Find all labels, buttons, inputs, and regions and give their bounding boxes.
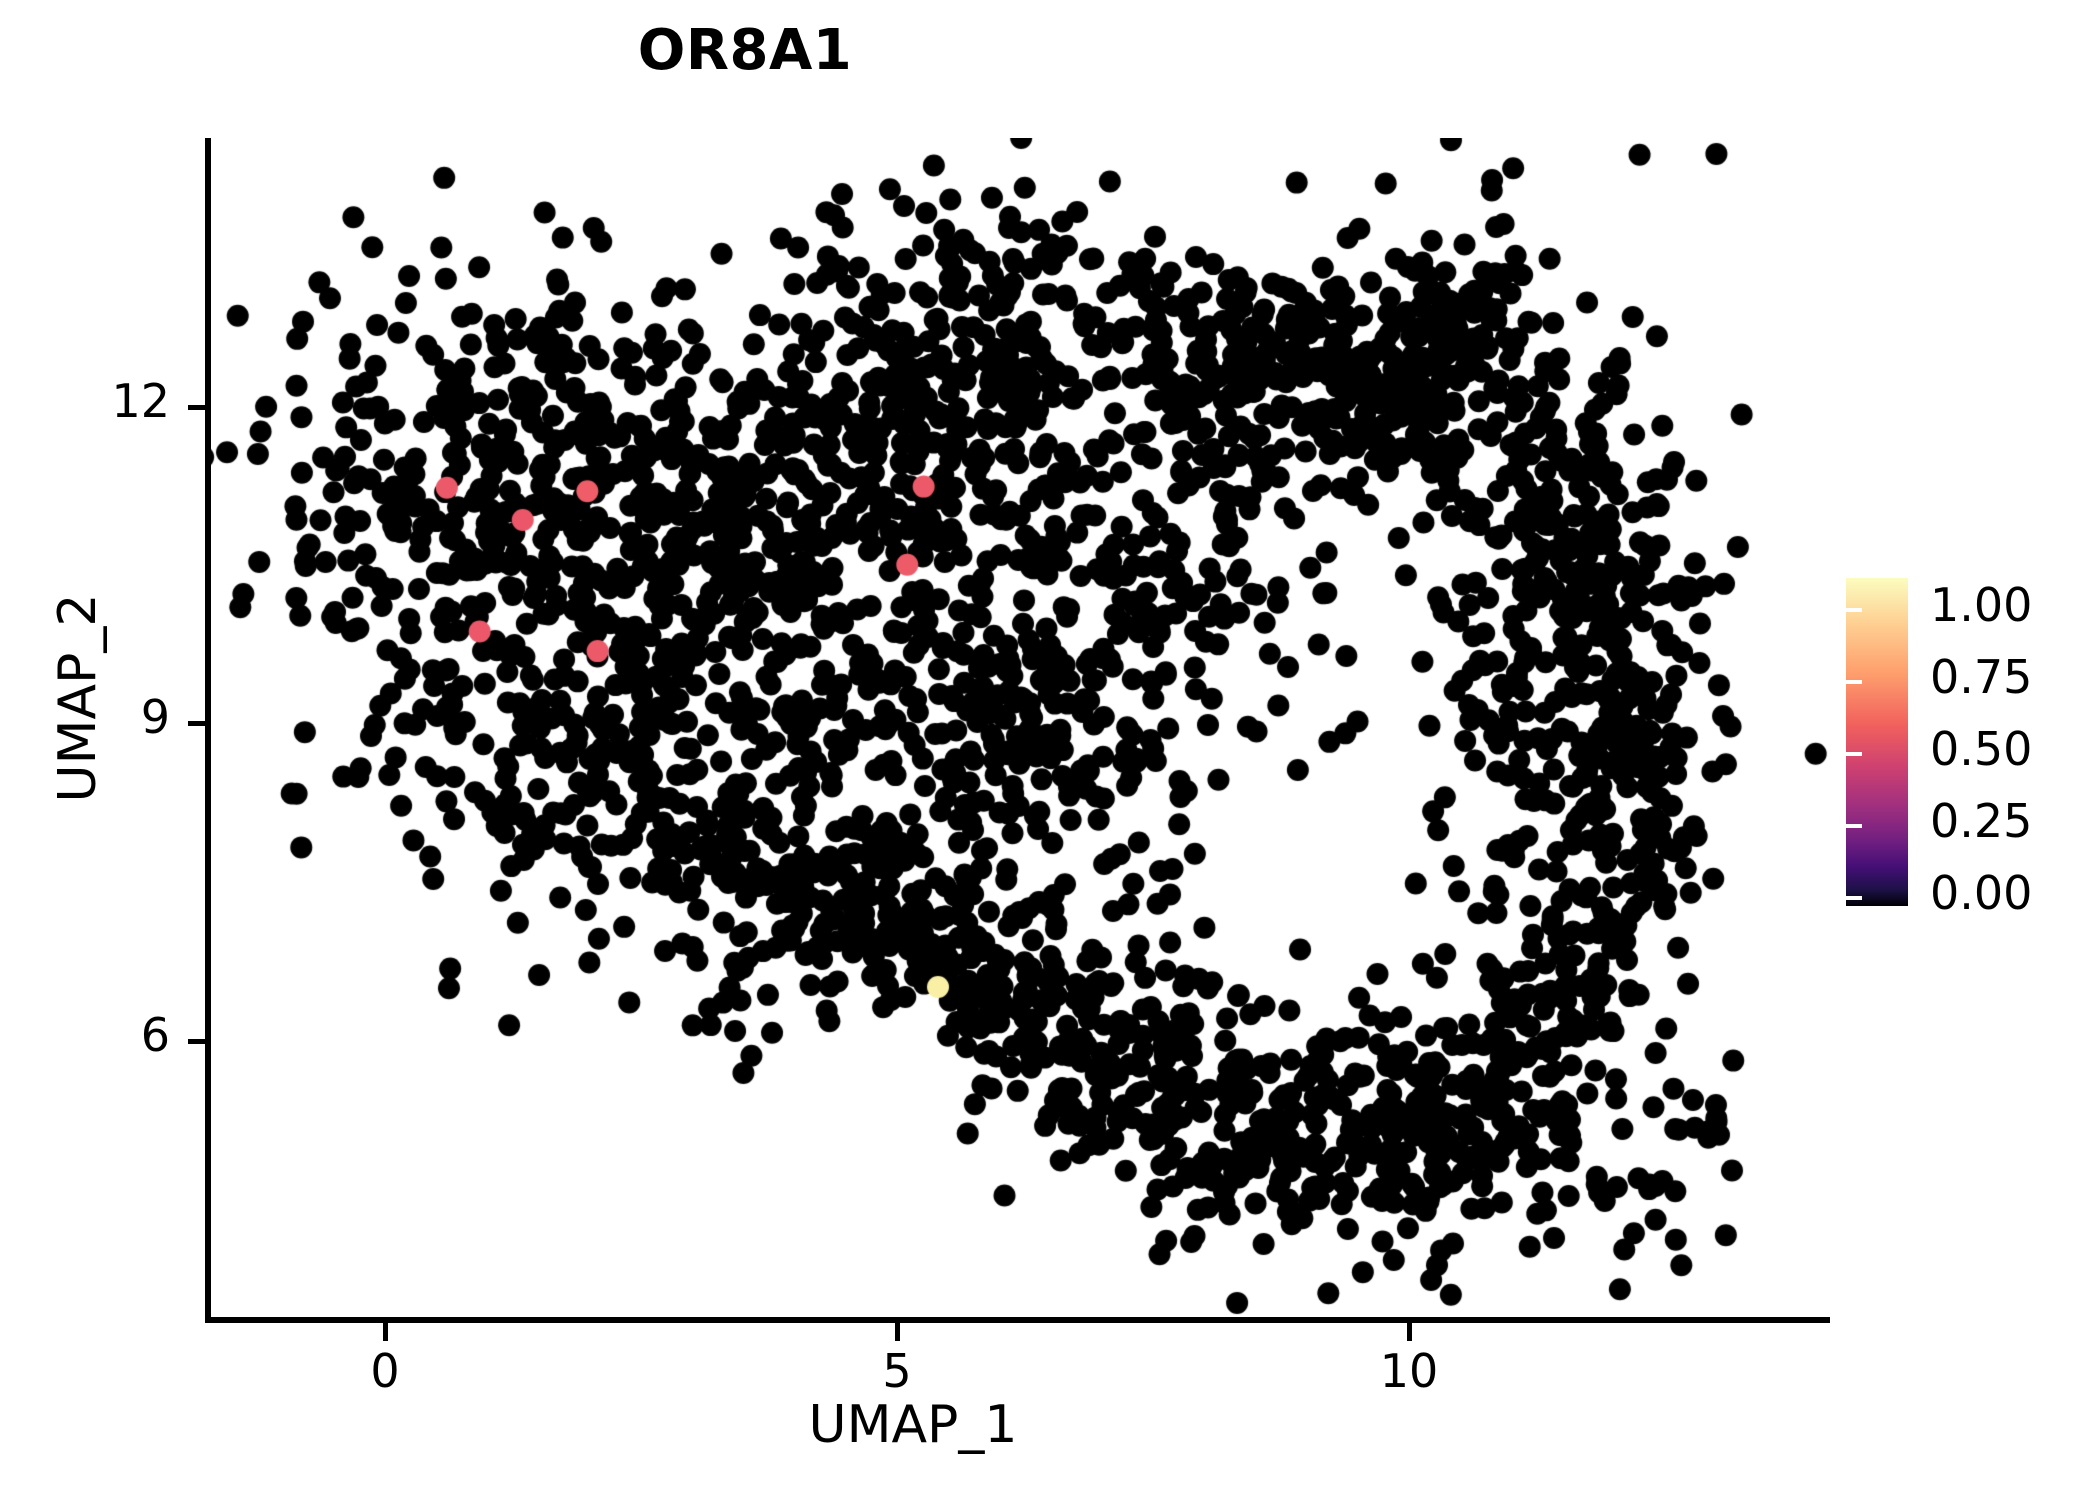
y-tick-label-6: 6 — [10, 1012, 170, 1058]
colorbar-label-0.00: 0.00 — [1930, 870, 2032, 916]
y-tick-mark-9 — [188, 721, 206, 726]
colorbar-tick-1.00-left — [1846, 608, 1862, 612]
x-tick-label-5: 5 — [817, 1348, 977, 1394]
x-tick-mark-0 — [383, 1323, 388, 1341]
colorbar-label-0.50: 0.50 — [1930, 726, 2032, 772]
x-tick-mark-10 — [1407, 1323, 1412, 1341]
colorbar-tick-0.75-left — [1846, 680, 1862, 684]
x-axis-label: UMAP_1 — [208, 1395, 1618, 1455]
colorbar-tick-0.25-left — [1846, 824, 1862, 828]
colorbar-tick-0.50-right — [2070, 752, 2086, 756]
x-tick-label-0: 0 — [305, 1348, 465, 1394]
colorbar-gradient — [1846, 578, 1908, 906]
x-axis-spine — [205, 1317, 1830, 1323]
scatter-plot-area[interactable] — [208, 138, 1828, 1323]
colorbar-label-0.25: 0.25 — [1930, 798, 2032, 844]
colorbar-tick-0.75-right — [2070, 680, 2086, 684]
colorbar-label-0.75: 0.75 — [1930, 654, 2032, 700]
colorbar-label-1.00: 1.00 — [1930, 582, 2032, 628]
y-axis-spine — [205, 138, 211, 1323]
y-tick-mark-12 — [188, 405, 206, 410]
page-title: OR8A1 — [0, 18, 1490, 83]
colorbar-tick-0.25-right — [2070, 824, 2086, 828]
y-axis-label: UMAP_2 — [48, 388, 108, 1008]
x-tick-mark-5 — [895, 1323, 900, 1341]
y-tick-mark-6 — [188, 1039, 206, 1044]
scatter-points-canvas[interactable] — [208, 138, 1828, 1323]
umap-feature-plot-figure: OR8A1 12 9 6 0 5 10 UMAP_1 UMAP_2 1.00 0… — [0, 0, 2100, 1500]
colorbar-legend[interactable]: 1.00 0.75 0.50 0.25 0.00 — [1846, 578, 2086, 908]
colorbar-tick-0.00-left — [1846, 896, 1862, 900]
colorbar-tick-0.00-right — [2070, 896, 2086, 900]
colorbar-tick-0.50-left — [1846, 752, 1862, 756]
colorbar-tick-1.00-right — [2070, 608, 2086, 612]
x-tick-label-10: 10 — [1329, 1348, 1489, 1394]
